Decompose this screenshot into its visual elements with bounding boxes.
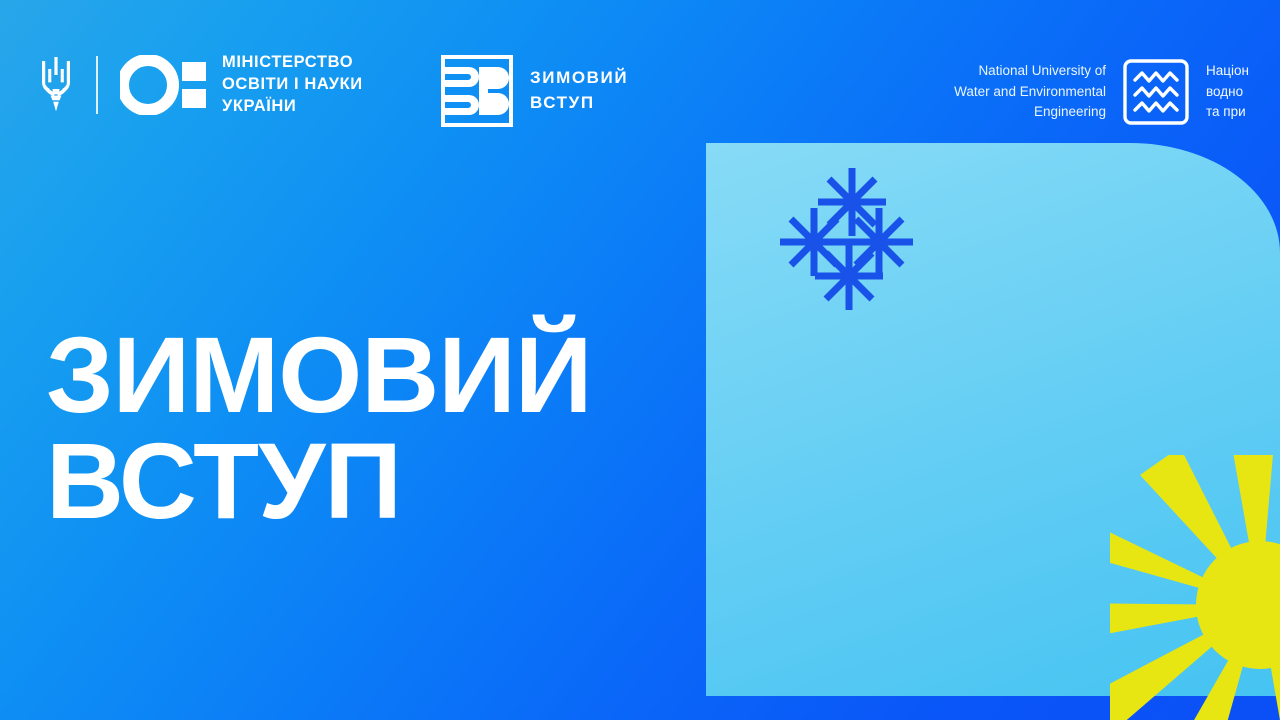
ministry-line-3: України: [222, 97, 296, 115]
ministry-line-1: Міністерство: [222, 53, 353, 71]
university-name-en: National University of Water and Environ…: [954, 58, 1106, 123]
university-en-line-3: Engineering: [1034, 104, 1106, 119]
ministry-lockup: Міністерство Освіти і науки України: [38, 52, 363, 117]
university-ua-line-1: Націон: [1206, 63, 1249, 78]
university-ua-line-3: та при: [1206, 104, 1246, 119]
program-line-2: Вступ: [530, 93, 595, 112]
program-line-1: Зимовий: [530, 68, 628, 87]
ministry-line-2: Освіти і науки: [222, 75, 363, 93]
headline-line-2: Вступ: [46, 428, 592, 534]
poster-headline: Зимовий Вступ: [46, 322, 592, 534]
program-name: Зимовий Вступ: [530, 66, 628, 115]
university-en-line-1: National University of: [978, 63, 1106, 78]
university-ua-line-2: водно: [1206, 84, 1243, 99]
snowflake-star-cluster-decor: [752, 168, 952, 348]
poster-canvas: Міністерство Освіти і науки України: [0, 0, 1280, 720]
university-name-ua: Націон водно та при: [1206, 58, 1280, 123]
ministry-logo-icon: [120, 55, 206, 115]
headline-line-1: Зимовий: [46, 314, 592, 435]
ukraine-trident-icon: [38, 55, 74, 115]
hero-panel: [706, 143, 1280, 696]
header-divider: [96, 56, 98, 114]
poster-header: Міністерство Освіти і науки України: [0, 0, 1280, 143]
ministry-name: Міністерство Освіти і науки України: [222, 52, 363, 117]
program-lockup: Зимовий Вступ: [441, 55, 628, 127]
university-en-line-2: Water and Environmental: [954, 84, 1106, 99]
university-lockup: National University of Water and Environ…: [954, 58, 1280, 126]
zv-monogram-icon: [441, 55, 513, 127]
water-waves-icon: [1122, 58, 1190, 126]
